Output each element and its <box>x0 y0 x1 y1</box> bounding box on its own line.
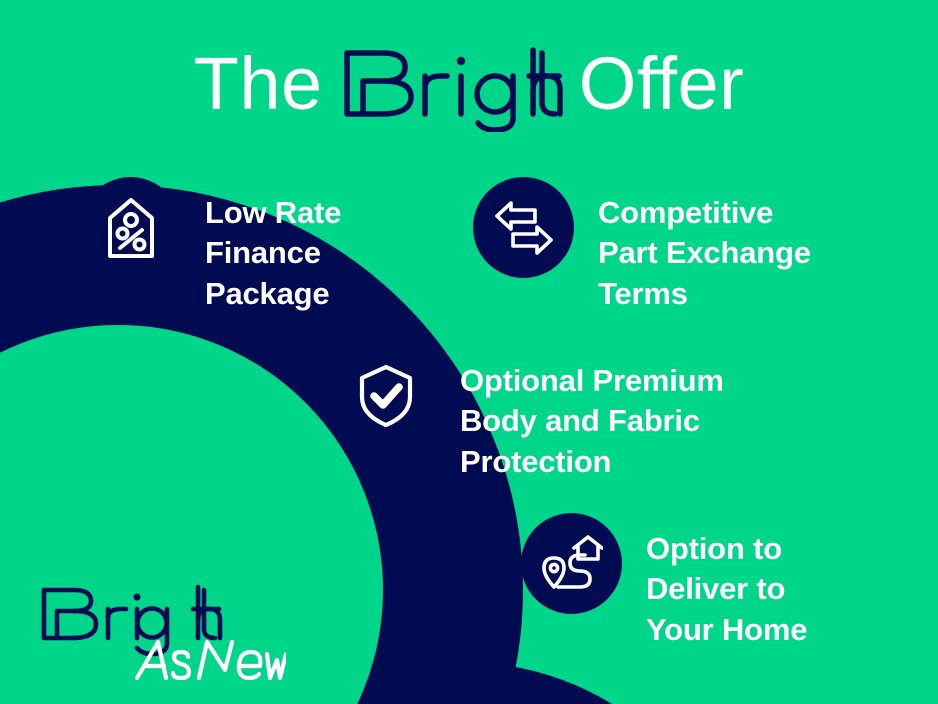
logo-g-bowl <box>138 609 167 638</box>
headline-brand-wordmark <box>337 36 569 132</box>
headline-suffix: Offer <box>579 42 745 125</box>
feature-item-low-rate-finance: Low Rate Finance Package <box>80 177 505 314</box>
feature-label: Competitive Part Exchange Terms <box>598 177 898 314</box>
promotional-poster: The <box>0 0 938 704</box>
logo-i-dot <box>133 593 140 600</box>
navy-wedge-bottom <box>497 664 612 704</box>
price-tag-percent-icon <box>80 177 181 278</box>
logo-primary-wordmark <box>44 587 220 654</box>
feature-label: Low Rate Finance Package <box>205 177 505 314</box>
feature-item-home-delivery: Option to Deliver to Your Home <box>521 513 896 650</box>
headline-prefix: The <box>194 42 323 125</box>
logo-secondary-wordmark <box>137 642 286 678</box>
feature-label: Optional Premium Body and Fabric Protect… <box>460 345 790 482</box>
feature-label: Option to Deliver to Your Home <box>646 513 896 650</box>
exchange-arrows-icon <box>473 177 574 278</box>
page-title: The <box>0 36 938 132</box>
feature-item-part-exchange: Competitive Part Exchange Terms <box>473 177 898 314</box>
brand-logo <box>36 578 286 683</box>
feature-item-body-fabric-protection: Optional Premium Body and Fabric Protect… <box>335 345 790 482</box>
home-delivery-route-icon <box>521 513 622 614</box>
shield-check-icon <box>335 345 436 446</box>
